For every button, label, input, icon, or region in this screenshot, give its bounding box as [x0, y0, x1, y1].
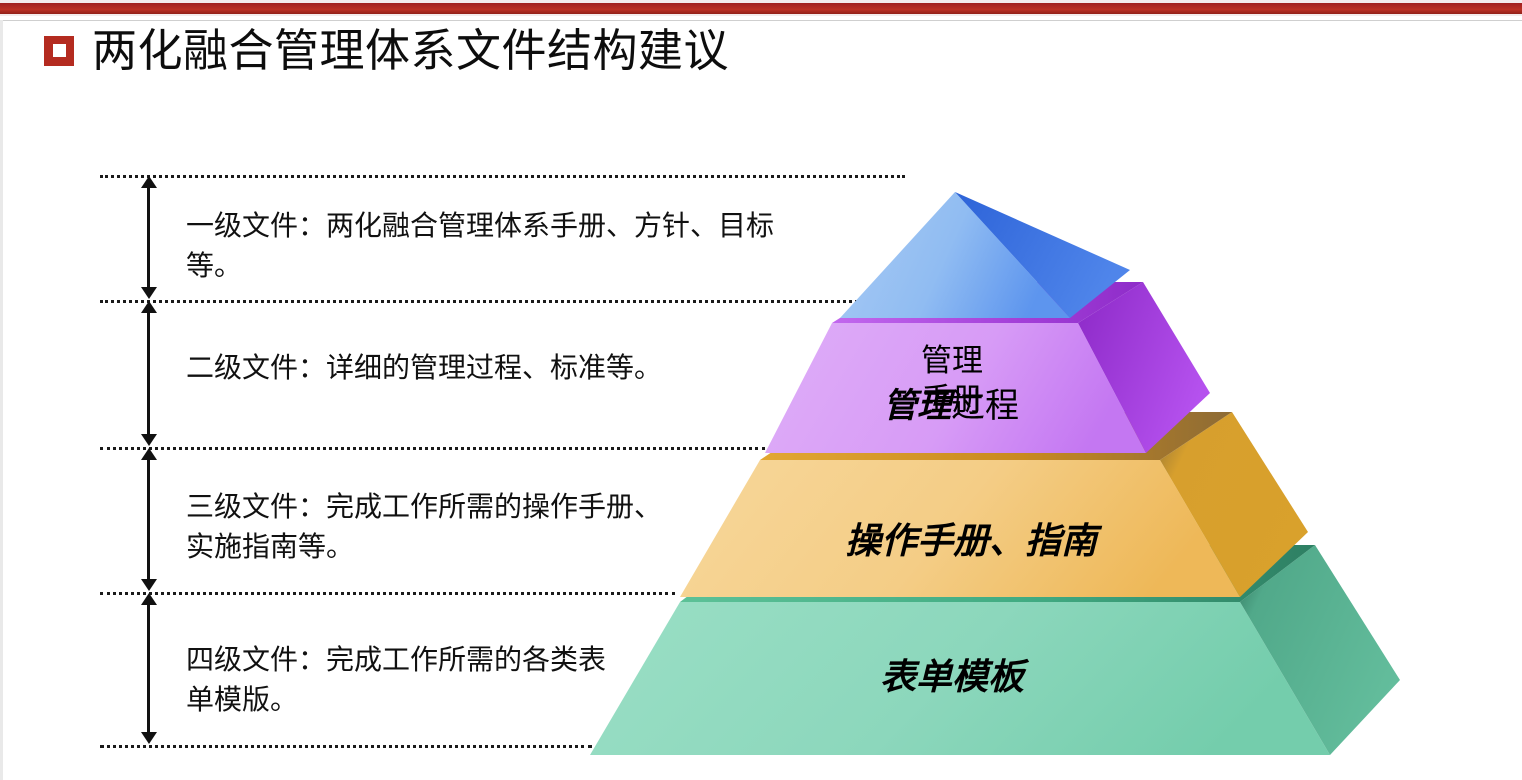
measure-arrow-level-3 — [147, 459, 150, 580]
slide-title-row: 两化融合管理体系文件结构建议 — [44, 28, 729, 73]
measure-arrow-level-4 — [147, 604, 150, 733]
top-accent-bar — [0, 3, 1522, 14]
slide-canvas: 两化融合管理体系文件结构建议 一级文件：两化融合管理体系手册、方针、目标等。 二… — [0, 0, 1522, 780]
level-4-description: 四级文件：完成工作所需的各类表单模版。 — [186, 640, 616, 720]
page-title: 两化融合管理体系文件结构建议 — [92, 28, 729, 73]
measure-arrow-level-2 — [147, 312, 150, 435]
red-square-bullet-icon — [44, 36, 74, 66]
top-hairline — [0, 20, 1522, 21]
pyramid-tier-manual — [840, 192, 1130, 318]
leader-line-5 — [100, 745, 592, 748]
pyramid-diagram: 管理 手册 管理过程 操作手册、指南 表单模板 — [560, 160, 1522, 780]
left-rail — [0, 20, 3, 780]
measure-arrow-level-1 — [147, 187, 150, 288]
